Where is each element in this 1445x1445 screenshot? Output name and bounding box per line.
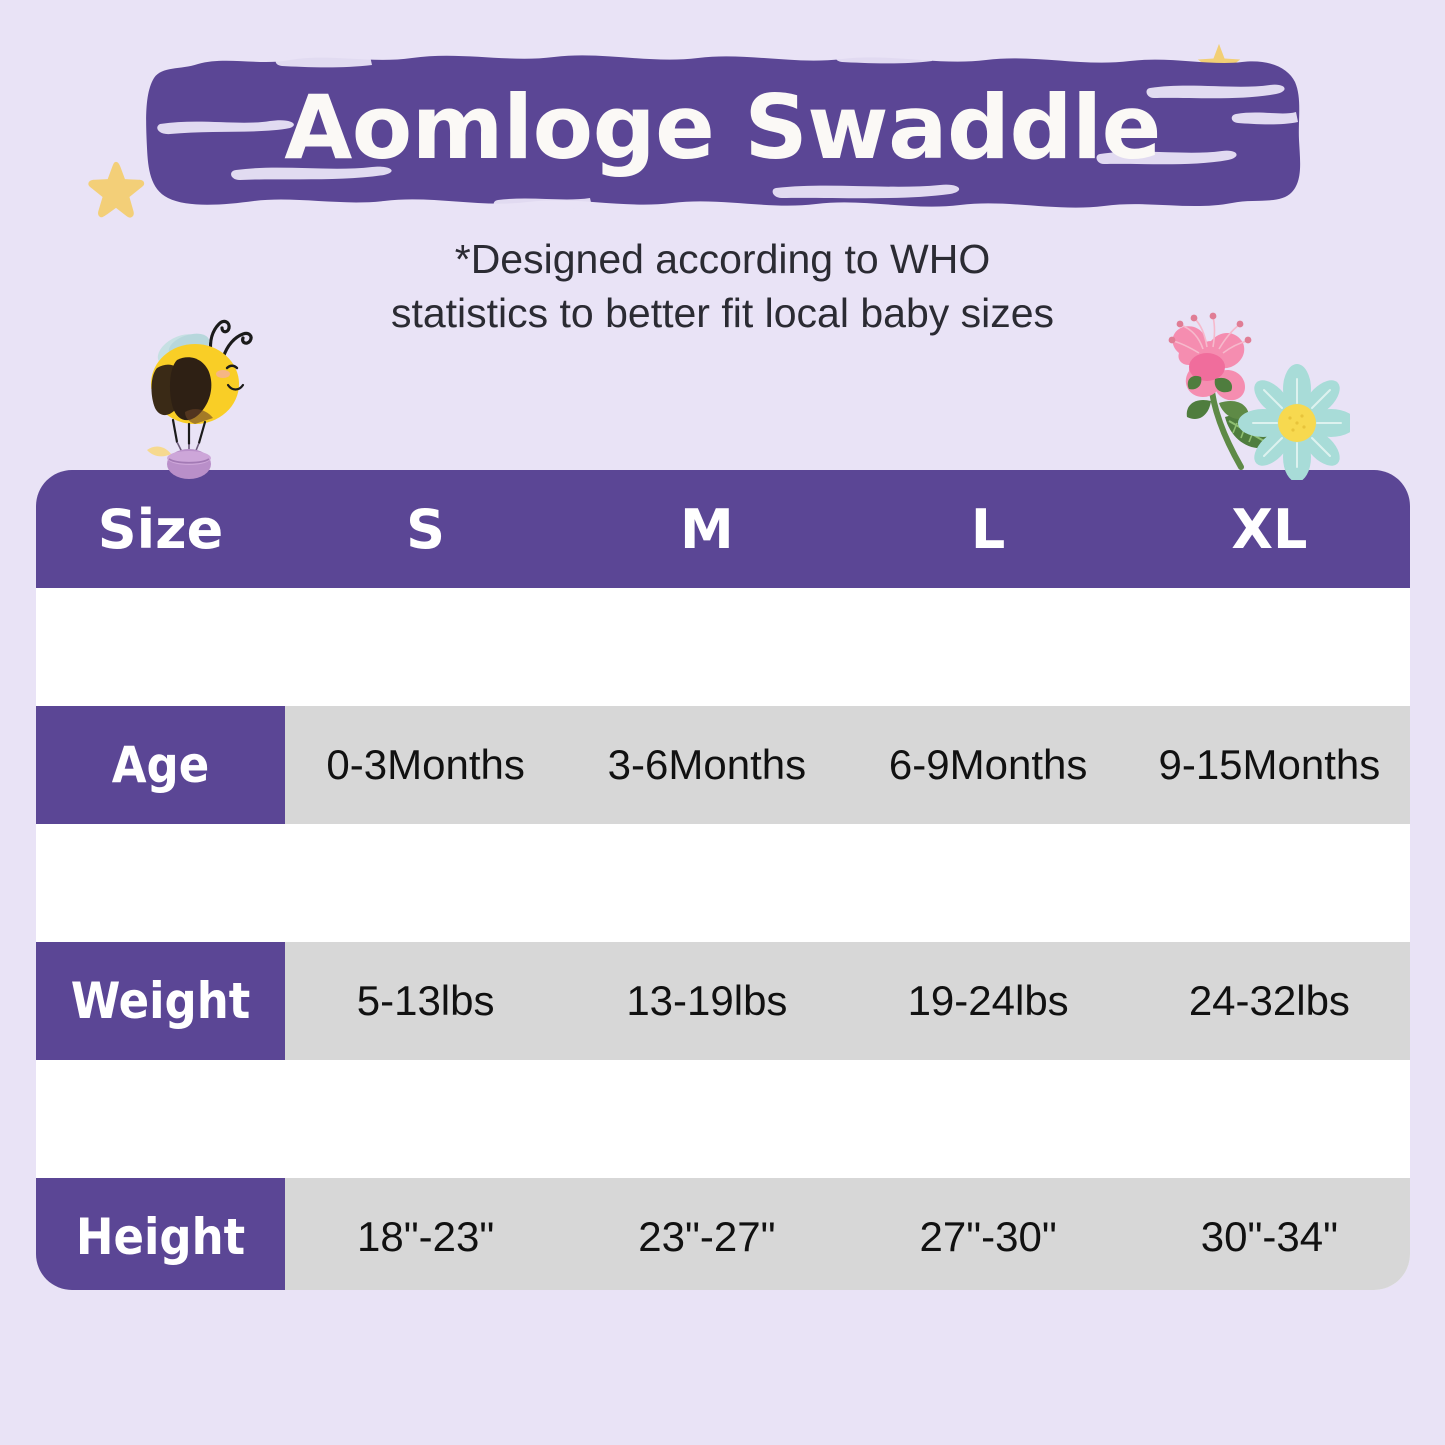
table-spacer-row: [36, 588, 1410, 706]
cell-height-m: 23"-27": [566, 1178, 847, 1290]
size-chart-table: Size S M L XL Age 0-3Months 3-6Months 6-…: [36, 470, 1410, 1290]
title-banner: Aomloge Swaddle: [140, 48, 1305, 213]
table-spacer-row: [36, 824, 1410, 942]
table-row: Age 0-3Months 3-6Months 6-9Months 9-15Mo…: [36, 706, 1410, 824]
column-header-s: S: [285, 470, 566, 588]
cell-age-xl: 9-15Months: [1129, 706, 1410, 824]
table-spacer-row: [36, 1060, 1410, 1178]
row-label-weight: Weight: [36, 942, 285, 1060]
cell-weight-s: 5-13lbs: [285, 942, 566, 1060]
bee-icon: [133, 312, 265, 484]
cell-height-l: 27"-30": [848, 1178, 1129, 1290]
subtitle-line-1: *Designed according to WHO: [0, 232, 1445, 286]
column-header-m: M: [566, 470, 847, 588]
cell-age-s: 0-3Months: [285, 706, 566, 824]
column-header-xl: XL: [1129, 470, 1410, 588]
star-icon: [84, 158, 148, 222]
flowers-icon: [1145, 305, 1350, 480]
cell-height-s: 18"-23": [285, 1178, 566, 1290]
table-row: Weight 5-13lbs 13-19lbs 19-24lbs 24-32lb…: [36, 942, 1410, 1060]
cell-weight-xl: 24-32lbs: [1129, 942, 1410, 1060]
row-label-height: Height: [36, 1178, 285, 1290]
table-row: Height 18"-23" 23"-27" 27"-30" 30"-34": [36, 1178, 1410, 1290]
table-header-row: Size S M L XL: [36, 470, 1410, 588]
cell-weight-l: 19-24lbs: [848, 942, 1129, 1060]
page-title: Aomloge Swaddle: [140, 48, 1305, 213]
column-header-size: Size: [36, 470, 285, 588]
row-label-age: Age: [36, 706, 285, 824]
cell-age-l: 6-9Months: [848, 706, 1129, 824]
cell-height-xl: 30"-34": [1129, 1178, 1410, 1290]
cell-weight-m: 13-19lbs: [566, 942, 847, 1060]
cell-age-m: 3-6Months: [566, 706, 847, 824]
column-header-l: L: [848, 470, 1129, 588]
